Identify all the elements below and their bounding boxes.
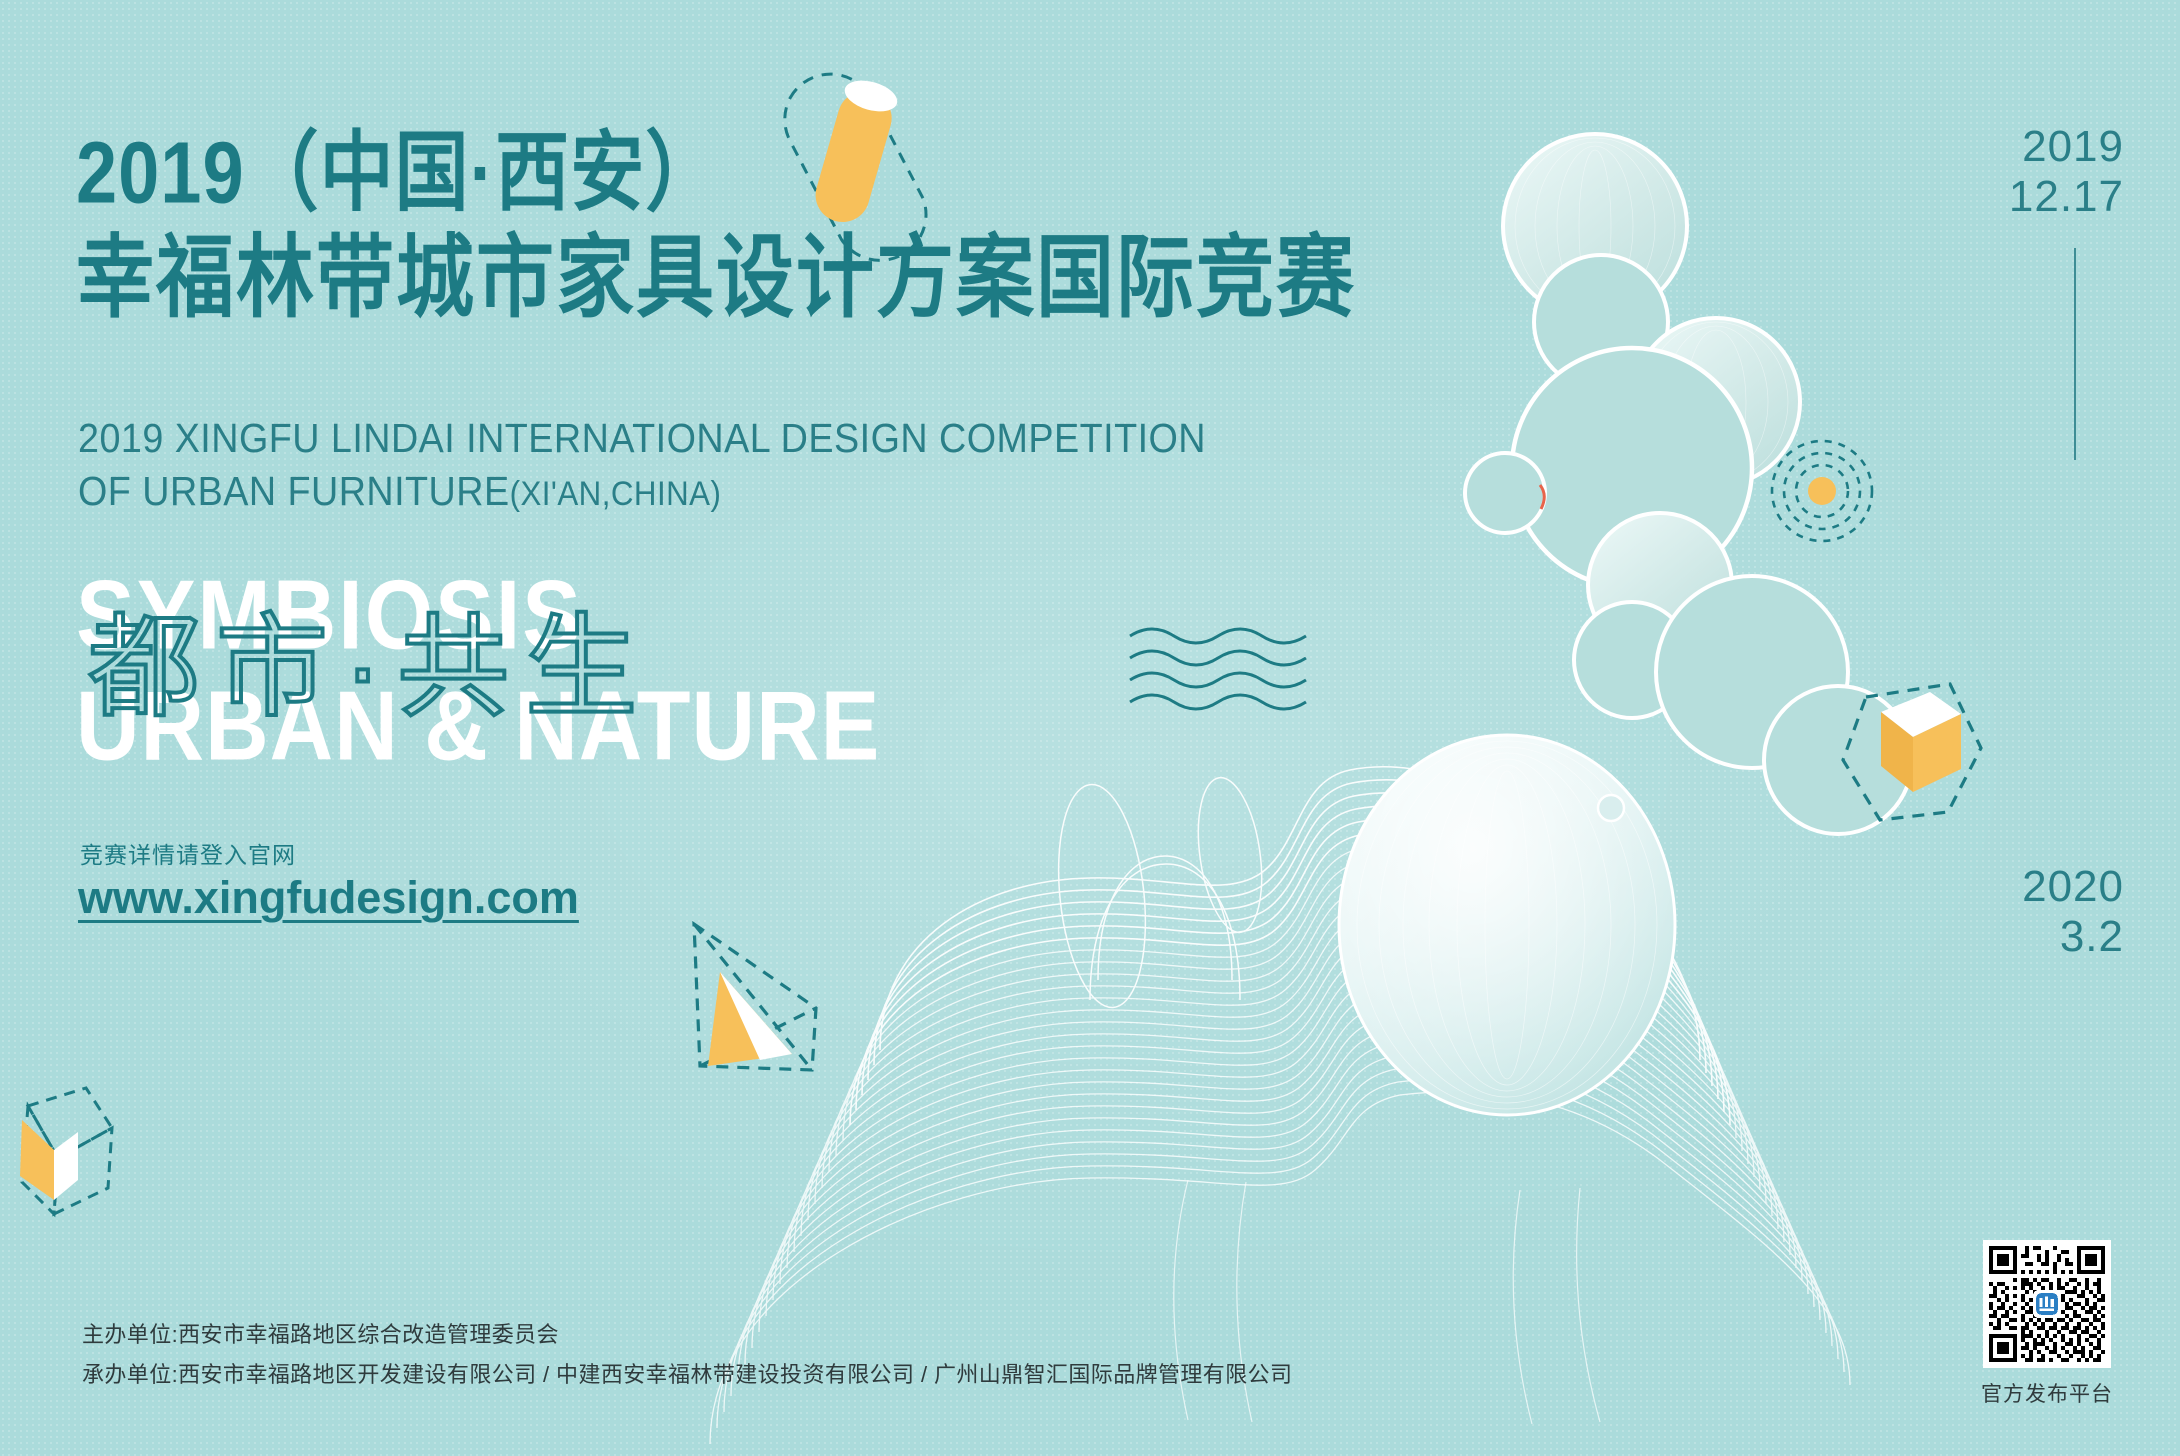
poster-canvas: 2019（中国·西安） 幸福林带城市家具设计方案国际竞赛 2019 XINGFU… (0, 0, 2180, 1456)
yellow-cylinder-icon (774, 57, 937, 277)
qr-code-image (1983, 1240, 2111, 1368)
footer-credits: 主办单位:西安市幸福路地区综合改造管理委员会 承办单位:西安市幸福路地区开发建设… (82, 1315, 1292, 1396)
dashed-box-icon (20, 1088, 112, 1214)
wave-lines-icon (1130, 629, 1306, 709)
footer-co-organizer: 承办单位:西安市幸福路地区开发建设有限公司 / 中建西安幸福林带建设投资有限公司… (82, 1355, 1292, 1396)
qr-block: 官方发布平台 (1972, 1240, 2122, 1408)
qr-caption: 官方发布平台 (1972, 1378, 2122, 1408)
qr-code-svg (1989, 1246, 2105, 1362)
yellow-cone-icon (694, 924, 816, 1070)
concentric-dot-target-icon (1772, 441, 1872, 541)
yellow-cube-icon (1843, 684, 1981, 820)
decorative-shapes-layer (0, 0, 2180, 1456)
footer-organizer: 主办单位:西安市幸福路地区综合改造管理委员会 (82, 1315, 1292, 1356)
